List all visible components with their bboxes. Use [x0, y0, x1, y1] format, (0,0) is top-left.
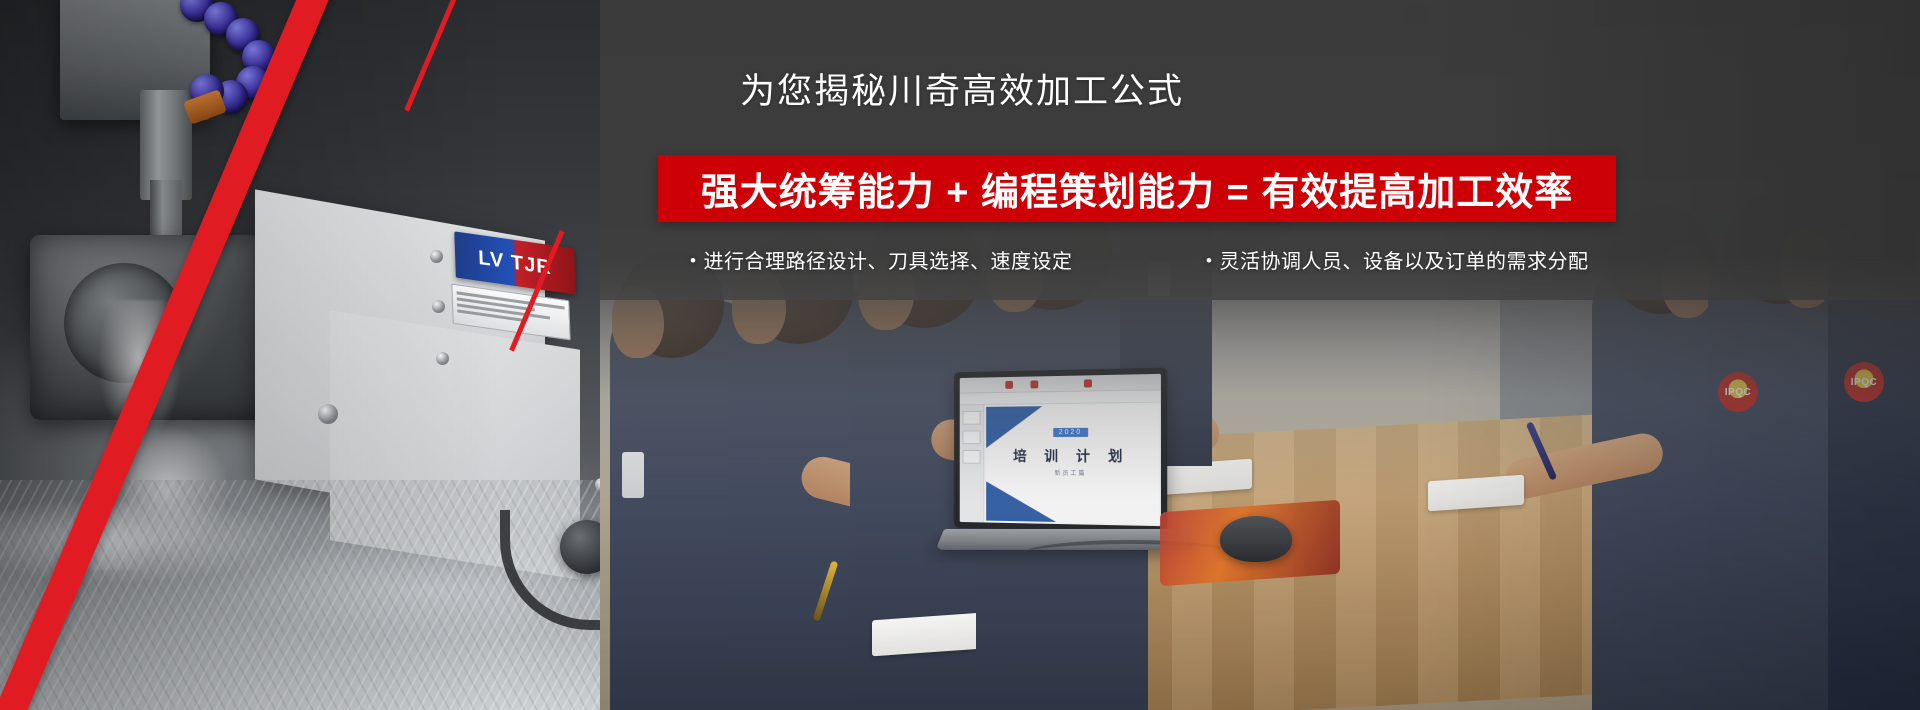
formula-bar-text: 强大统筹能力 + 编程策划能力 = 有效提高加工效率: [701, 161, 1574, 216]
feature-bullet: 进行合理路径设计、刀具选择、速度设定: [690, 245, 1072, 274]
banner-headline: 为您揭秘川奇高效加工公式: [740, 63, 1184, 114]
formula-bar: 强大统筹能力 + 编程策划能力 = 有效提高加工效率: [658, 155, 1616, 222]
banner-content: 为您揭秘川奇高效加工公式 强大统筹能力 + 编程策划能力 = 有效提高加工效率 …: [0, 0, 1920, 710]
feature-bullets: 进行合理路径设计、刀具选择、速度设定 灵活协调人员、设备以及订单的需求分配: [658, 245, 1616, 285]
feature-bullet: 灵活协调人员、设备以及订单的需求分配: [1206, 245, 1588, 274]
promo-banner: LV TJR: [0, 0, 1920, 710]
